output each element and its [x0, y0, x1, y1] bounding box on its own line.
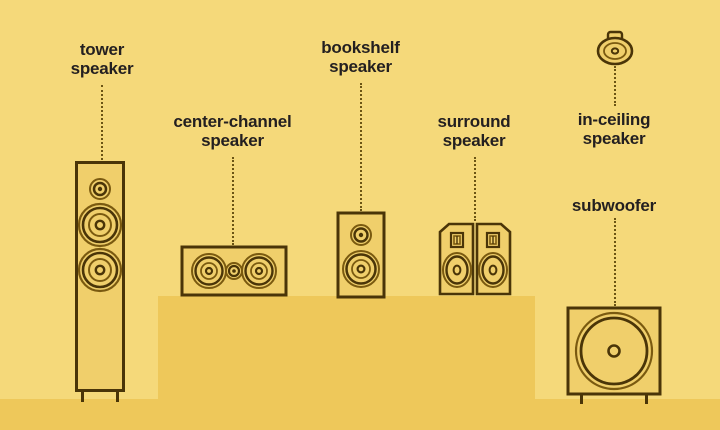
bookshelf-tweeter: [351, 225, 371, 245]
center-channel-speaker[interactable]: [180, 245, 288, 297]
leader-center-channel: [232, 157, 234, 245]
tower-speaker[interactable]: [74, 160, 132, 408]
leader-subwoofer: [614, 218, 616, 306]
surround-speaker-left: [440, 224, 473, 294]
label-bookshelf-speaker: bookshelf speaker: [293, 38, 428, 76]
subwoofer[interactable]: [566, 306, 662, 406]
surround-speaker-right: [477, 224, 510, 294]
bookshelf-speaker[interactable]: [336, 211, 386, 299]
leader-in-ceiling: [614, 66, 616, 106]
subwoofer-foot-right: [645, 394, 648, 404]
tower-foot-right: [116, 390, 119, 402]
tower-tweeter: [90, 179, 110, 199]
label-center-channel-speaker: center-channel speaker: [155, 112, 310, 150]
leader-surround: [474, 157, 476, 221]
label-surround-speaker: surround speaker: [408, 112, 540, 150]
tower-foot-left: [81, 390, 84, 402]
label-subwoofer: subwoofer: [549, 196, 679, 215]
in-ceiling-dome: [598, 38, 632, 64]
label-in-ceiling-speaker: in-ceiling speaker: [549, 110, 679, 148]
leader-bookshelf: [360, 83, 362, 211]
in-ceiling-speaker[interactable]: [594, 30, 636, 68]
surround-speaker-pair[interactable]: [437, 221, 513, 297]
leader-tower: [101, 85, 103, 160]
subwoofer-foot-left: [580, 394, 583, 404]
media-shelf: [158, 296, 535, 399]
speaker-types-diagram: tower speaker: [0, 0, 720, 430]
center-channel-tweeter: [226, 263, 242, 279]
label-tower-speaker: tower speaker: [37, 40, 167, 78]
